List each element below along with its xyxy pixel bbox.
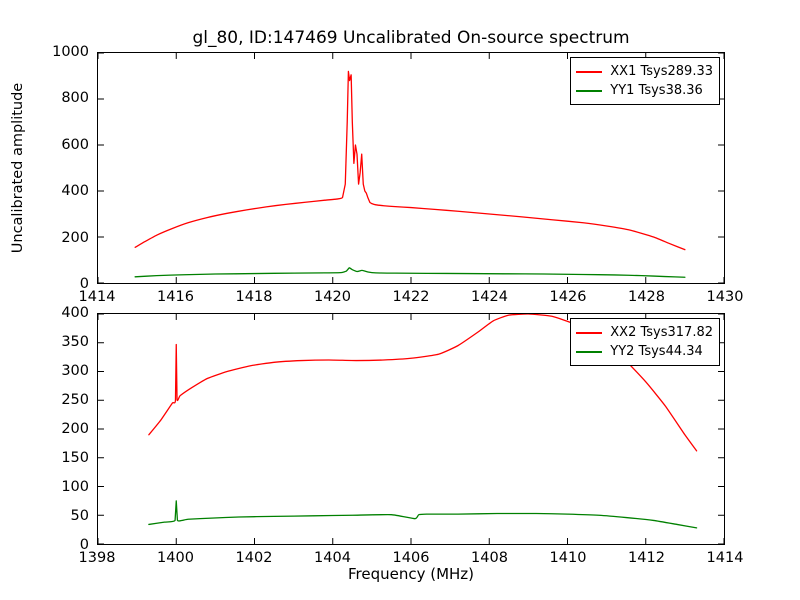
x-tick-label: 1412 xyxy=(628,550,665,566)
y-tick-label: 50 xyxy=(0,508,89,524)
x-tick-label: 1424 xyxy=(471,289,508,305)
x-tick-label: 1428 xyxy=(628,289,665,305)
x-tick-label: 1404 xyxy=(314,550,351,566)
x-axis-label: Frequency (MHz) xyxy=(348,565,474,583)
y-tick-label: 200 xyxy=(0,230,89,246)
legend-entry: XX2 Tsys317.82 xyxy=(576,323,713,342)
y-tick-label: 0 xyxy=(0,537,89,553)
legend-entry: XX1 Tsys289.33 xyxy=(576,62,713,81)
y-tick-label: 1000 xyxy=(0,44,89,60)
spectrum-figure: gl_80, ID:147469 Uncalibrated On-source … xyxy=(0,0,800,600)
x-tick-label: 1406 xyxy=(393,550,430,566)
y-tick-label: 800 xyxy=(0,90,89,106)
x-tick-label: 1410 xyxy=(550,550,587,566)
y-tick-label: 250 xyxy=(0,392,89,408)
legend-color-swatch xyxy=(576,351,602,353)
legend-color-swatch xyxy=(576,71,602,73)
y-axis-label: Uncalibrated amplitude xyxy=(10,83,26,253)
legend-entry: YY1 Tsys38.36 xyxy=(576,81,713,100)
x-tick-label: 1402 xyxy=(236,550,273,566)
legend-label: YY2 Tsys44.34 xyxy=(610,344,703,359)
x-tick-label: 1416 xyxy=(157,289,194,305)
figure-title: gl_80, ID:147469 Uncalibrated On-source … xyxy=(97,28,725,48)
x-tick-label: 1426 xyxy=(550,289,587,305)
series-line xyxy=(135,268,685,277)
legend-label: XX1 Tsys289.33 xyxy=(610,64,713,79)
legend-color-swatch xyxy=(576,332,602,334)
x-tick-label: 1430 xyxy=(707,289,744,305)
series-line xyxy=(149,501,697,528)
x-tick-label: 1398 xyxy=(79,550,116,566)
bottom-legend: XX2 Tsys317.82YY2 Tsys44.34 xyxy=(570,318,720,366)
x-tick-label: 1414 xyxy=(79,289,116,305)
x-tick-label: 1400 xyxy=(157,550,194,566)
y-tick-label: 150 xyxy=(0,450,89,466)
y-tick-label: 400 xyxy=(0,305,89,321)
y-tick-label: 600 xyxy=(0,137,89,153)
top-spectrum-axes: XX1 Tsys289.33YY1 Tsys38.36 xyxy=(97,52,725,284)
legend-entry: YY2 Tsys44.34 xyxy=(576,342,713,361)
y-tick-label: 100 xyxy=(0,479,89,495)
y-tick-label: 200 xyxy=(0,421,89,437)
x-tick-label: 1422 xyxy=(393,289,430,305)
legend-color-swatch xyxy=(576,90,602,92)
y-tick-label: 350 xyxy=(0,334,89,350)
y-tick-label: 400 xyxy=(0,183,89,199)
bottom-spectrum-axes: XX2 Tsys317.82YY2 Tsys44.34 xyxy=(97,313,725,545)
y-tick-label: 300 xyxy=(0,363,89,379)
x-tick-label: 1420 xyxy=(314,289,351,305)
legend-label: YY1 Tsys38.36 xyxy=(610,83,703,98)
x-tick-label: 1414 xyxy=(707,550,744,566)
x-tick-label: 1418 xyxy=(236,289,273,305)
y-tick-label: 0 xyxy=(0,276,89,292)
x-tick-label: 1408 xyxy=(471,550,508,566)
top-legend: XX1 Tsys289.33YY1 Tsys38.36 xyxy=(570,57,720,105)
legend-label: XX2 Tsys317.82 xyxy=(610,325,713,340)
